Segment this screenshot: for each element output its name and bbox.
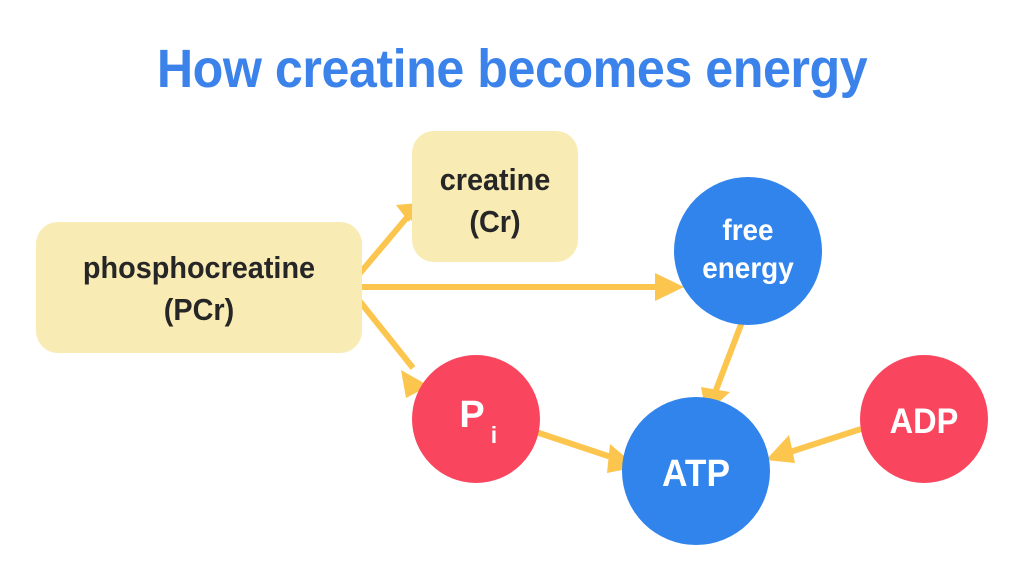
node-pi[interactable]: P i [412,355,540,483]
arrow-adp-to-atp [766,429,861,463]
free-energy-label-line1: free [722,214,773,247]
arrow-pi-to-atp [527,429,637,473]
phosphocreatine-label-line1: phosphocreatine [83,251,315,285]
node-creatine[interactable]: creatine (Cr) [412,131,578,262]
pi-subscript: i [491,422,497,448]
free-energy-circle-shape [674,177,822,325]
diagram-canvas: How creatine becomes energy [0,0,1024,576]
node-phosphocreatine[interactable]: phosphocreatine (PCr) [36,222,362,353]
phosphocreatine-box-shape [36,222,362,353]
node-adp[interactable]: ADP [860,355,988,483]
arrow-pcr-to-free-energy [350,273,684,301]
creatine-energy-diagram: phosphocreatine (PCr) creatine (Cr) free… [0,0,1024,576]
node-free-energy[interactable]: free energy [674,177,822,325]
pi-label: P [459,394,484,436]
creatine-label-line2: (Cr) [469,205,520,239]
phosphocreatine-label-line2: (PCr) [164,293,234,327]
atp-label: ATP [662,452,730,494]
free-energy-label-line2: energy [702,252,793,285]
adp-label: ADP [890,402,959,441]
node-atp[interactable]: ATP [622,397,770,545]
creatine-label-line1: creatine [440,163,551,197]
